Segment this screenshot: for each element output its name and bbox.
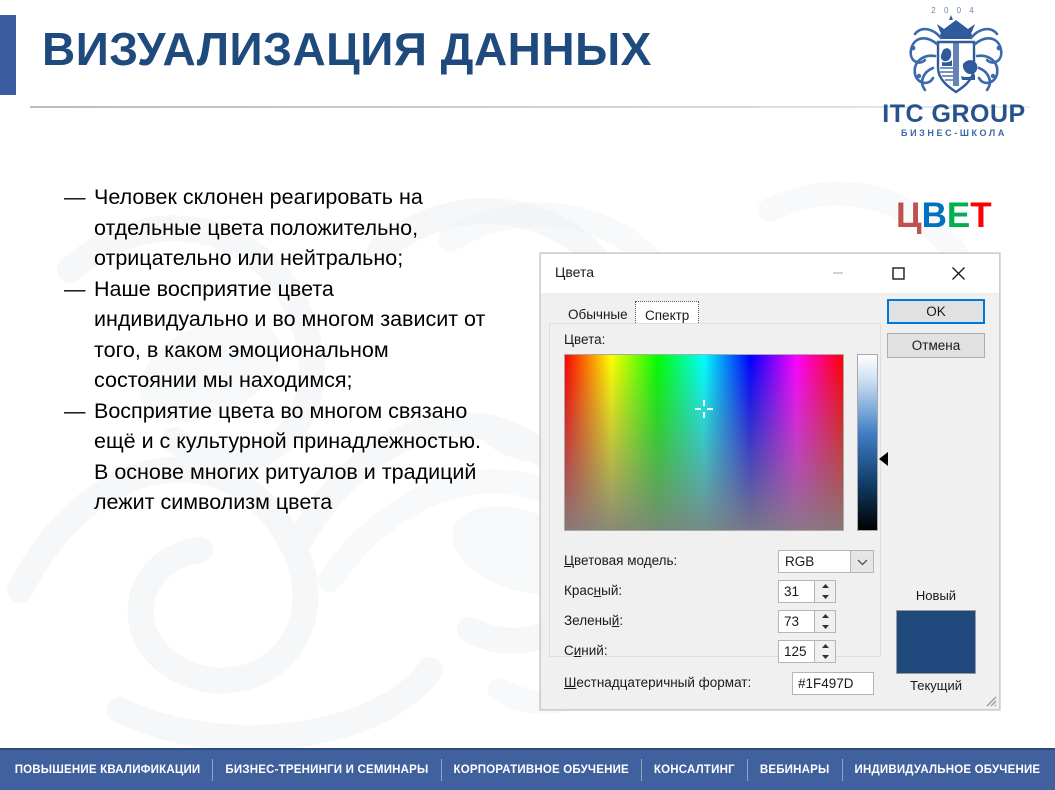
field-label-pre: Зелены [564,613,612,628]
stepper-up-icon[interactable] [815,581,835,591]
green-stepper[interactable]: 73 [778,610,836,633]
bullet-text: Человек склонен реагировать на отдельные… [94,182,494,274]
heraldic-crest-icon [897,4,1015,100]
close-button[interactable] [935,254,981,292]
bullet-list: — Человек склонен реагировать на отдельн… [64,182,494,518]
colors-label: Цвета: [564,332,605,347]
field-label: Шестнадцатеричный формат: [564,675,751,690]
chevron-down-icon[interactable] [850,551,873,572]
dialog-title-bar: Цвета [541,254,999,293]
footer-item-individualnoe[interactable]: ИНДИВИДУАЛЬНОЕ ОБУЧЕНИЕ [843,764,1053,776]
cvet-letter-2: В [922,196,947,235]
stepper-down-icon[interactable] [815,622,835,632]
footer-bar: ПОВЫШЕНИЕ КВАЛИФИКАЦИИ БИЗНЕС-ТРЕНИНГИ И… [0,748,1055,790]
dialog-title: Цвета [555,264,594,280]
field-label: Цветовая модель: [564,553,677,568]
footer-item-vebinary[interactable]: ВЕБИНАРЫ [748,764,842,776]
stepper-buttons[interactable] [814,581,835,602]
field-label-post: : [619,613,623,628]
footer-item-konsalting[interactable]: КОНСАЛТИНГ [642,764,747,776]
page-title: ВИЗУАЛИЗАЦИЯ ДАННЫХ [42,22,652,76]
resize-grip-icon[interactable] [983,693,997,707]
list-item: — Восприятие цвета во многом связано ещё… [64,396,494,518]
bullet-dash: — [64,182,94,213]
mnemonic: н [594,583,601,598]
stepper-buttons[interactable] [814,611,835,632]
logo-wordmark: ITC GROUP [865,100,1043,129]
ok-button[interactable]: OK [887,299,985,324]
stepper-buttons[interactable] [814,641,835,662]
mnemonic: Ц [564,553,574,568]
maximize-icon [892,267,905,280]
blue-stepper[interactable]: 125 [778,640,836,663]
field-label: Зеленый: [564,613,623,628]
list-item: — Человек склонен реагировать на отдельн… [64,182,494,274]
preview-current-label: Текущий [887,678,985,693]
red-value: 31 [784,584,799,599]
bullet-dash: — [64,396,94,427]
color-model-value: RGB [785,554,814,569]
stepper-down-icon[interactable] [815,592,835,602]
bullet-dash: — [64,274,94,305]
blue-value: 125 [784,644,807,659]
spectrum-picker[interactable] [564,354,844,531]
field-label-pre: С [564,643,574,658]
footer-item-korporativnoe[interactable]: КОРПОРАТИВНОЕ ОБУЧЕНИЕ [442,764,641,776]
field-label: Синий: [564,643,608,658]
field-label-pre: Крас [564,583,594,598]
maximize-button[interactable] [875,254,921,292]
logo-subtitle: БИЗНЕС-ШКОЛА [865,128,1043,138]
itc-group-logo: 2 0 0 4 [865,4,1043,144]
hex-value: #1F497D [798,676,854,691]
field-label-text: ветовая модель: [574,553,677,568]
list-item: — Наше восприятие цвета индивидуально и … [64,274,494,396]
stepper-up-icon[interactable] [815,641,835,651]
bullet-text: Наше восприятие цвета индивидуально и во… [94,274,494,396]
minimize-icon [832,267,844,279]
hex-input[interactable]: #1F497D [792,672,874,695]
green-value: 73 [784,614,799,629]
left-arrow-icon[interactable] [879,452,888,466]
footer-item-povyshenie[interactable]: ПОВЫШЕНИЕ КВАЛИФИКАЦИИ [3,764,213,776]
spectrum-gradient[interactable] [565,355,843,530]
colors-dialog: Цвета Обычные Спектр Цвета: [540,253,1000,710]
stepper-down-icon[interactable] [815,652,835,662]
cvet-letter-1: Ц [896,196,922,235]
cancel-button[interactable]: Отмена [887,333,985,358]
minimize-button[interactable] [815,254,861,292]
title-accent-bar [0,15,16,95]
field-label-post: ый: [601,583,622,598]
footer-item-treningi[interactable]: БИЗНЕС-ТРЕНИНГИ И СЕМИНАРЫ [213,764,440,776]
crosshair-icon[interactable] [695,400,713,418]
stepper-up-icon[interactable] [815,611,835,621]
color-preview: Новый Текущий [887,588,985,698]
bullet-text: Восприятие цвета во многом связано ещё и… [94,396,494,518]
spectrum-panel: Цвета: Цветовая модель: RGB [549,323,881,657]
mnemonic: Ш [564,675,576,690]
cvet-letter-4: Т [970,196,991,235]
preview-new-label: Новый [887,588,985,603]
cvet-heading: ЦВЕТ [896,196,992,236]
red-stepper[interactable]: 31 [778,580,836,603]
close-icon [951,266,966,281]
dialog-body: Обычные Спектр Цвета: Цветовая модель: R… [541,293,999,709]
color-model-select[interactable]: RGB [778,550,874,573]
luminance-slider[interactable] [857,354,878,531]
field-label-post: естнадцатеричный формат: [576,675,751,690]
field-label-post: ний: [581,643,607,658]
cvet-letter-3: Е [947,196,970,235]
field-label: Красный: [564,583,622,598]
preview-swatch [896,610,976,674]
